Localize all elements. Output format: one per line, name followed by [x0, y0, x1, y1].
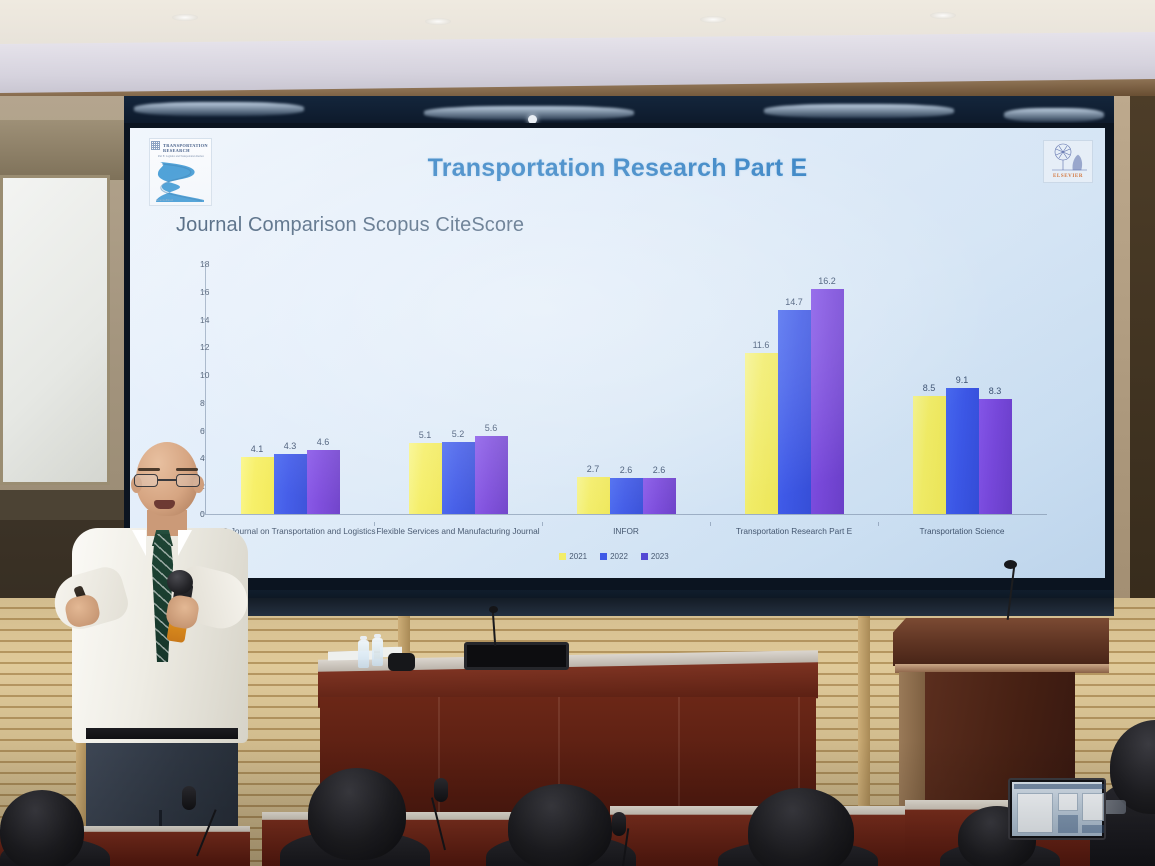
bar-2023: 8.3 — [979, 399, 1012, 514]
bar-2022: 4.3 — [274, 454, 307, 514]
ceiling-light-icon — [930, 12, 956, 19]
audience-microphone-head-icon — [612, 812, 626, 836]
y-axis-tick-mark — [201, 401, 205, 402]
bar-value-label: 2.6 — [620, 465, 633, 475]
wall-panel — [0, 120, 128, 180]
bar-value-label: 14.7 — [785, 297, 803, 307]
x-axis-line — [205, 514, 1047, 515]
bar-2021: 5.1 — [409, 443, 442, 514]
legend-item-2021: 2021 — [559, 552, 587, 561]
bar-2022: 14.7 — [778, 310, 811, 514]
ceiling-light-icon — [425, 18, 451, 25]
bar-2022: 2.6 — [610, 478, 643, 514]
laptop-screen — [1012, 782, 1102, 836]
y-axis-tick-mark — [201, 374, 205, 375]
presenter-mouth — [154, 500, 175, 509]
logo-line-2: RESEARCH — [163, 148, 209, 153]
screen-shadow-band — [124, 598, 1114, 616]
audience-head — [748, 788, 854, 866]
bar-value-label: 5.2 — [452, 429, 465, 439]
bar-value-label: 4.3 — [284, 441, 297, 451]
bar-group-bars: 11.614.716.2 — [710, 264, 878, 514]
journal-emblem-icon — [151, 141, 160, 150]
water-bottle — [372, 638, 383, 666]
bar-value-label: 2.7 — [587, 464, 600, 474]
bar-value-label: 4.6 — [317, 437, 330, 447]
eyeglasses-icon — [134, 474, 200, 487]
bar-value-label: 16.2 — [818, 276, 836, 286]
x-axis-category-label: Transportation Science — [864, 526, 1060, 537]
presenter-brow — [138, 468, 160, 471]
bottle-cap — [374, 634, 381, 638]
audience-laptop[interactable] — [1008, 778, 1106, 840]
audience-microphone-head-icon — [434, 778, 448, 802]
bar-2022: 5.2 — [442, 442, 475, 514]
bar-2023: 4.6 — [307, 450, 340, 514]
water-bottle — [358, 640, 369, 668]
shirt-collar — [132, 530, 146, 556]
bar-2021: 2.7 — [577, 477, 610, 515]
y-axis-tick-mark — [201, 263, 205, 264]
audience-head — [308, 768, 406, 860]
slide-title: Transportation Research Part E — [130, 154, 1105, 183]
bar-group-bars: 2.72.62.6 — [542, 264, 710, 514]
bar-2021: 8.5 — [913, 396, 946, 514]
y-axis-tick-mark — [201, 318, 205, 319]
logo-footer: ScienceDirect — [156, 199, 173, 202]
bar-chart: 024681012141618 4.14.34.6EURO Journal on… — [154, 256, 1074, 566]
x-axis-category-label: INFOR — [528, 526, 724, 537]
audience-microphone-head-icon — [182, 786, 196, 810]
bar-value-label: 5.6 — [485, 423, 498, 433]
bar-value-label: 8.3 — [989, 386, 1002, 396]
bar-2023: 5.6 — [475, 436, 508, 514]
lecture-room: TRANSPORTATION RESEARCH Part E: Logistic… — [0, 0, 1155, 866]
legend-item-2022: 2022 — [600, 552, 628, 561]
bar-group: 2.72.62.6INFOR — [542, 264, 710, 514]
bar-value-label: 9.1 — [956, 375, 969, 385]
bar-2023: 16.2 — [811, 289, 844, 514]
plot-area: 024681012141618 4.14.34.6EURO Journal on… — [206, 264, 1046, 514]
audience-head — [508, 784, 612, 866]
bar-group-bars: 5.15.25.6 — [374, 264, 542, 514]
projector-screen: TRANSPORTATION RESEARCH Part E: Logistic… — [130, 128, 1105, 578]
equipment-case — [388, 653, 415, 671]
bar-group: 8.59.18.3Transportation Science — [878, 264, 1046, 514]
y-axis-tick-mark — [201, 290, 205, 291]
bar-group: 11.614.716.2Transportation Research Part… — [710, 264, 878, 514]
lectern-top — [893, 618, 1109, 666]
bar-2021: 4.1 — [241, 457, 274, 514]
legend-label: 2021 — [569, 552, 587, 561]
bottle-cap — [360, 636, 367, 640]
x-axis-category-label: Transportation Research Part E — [696, 526, 892, 537]
bar-group-bars: 8.59.18.3 — [878, 264, 1046, 514]
legend-swatch — [600, 553, 607, 560]
presenter-brow — [176, 468, 198, 471]
bar-2023: 2.6 — [643, 478, 676, 514]
ceiling-light-icon — [172, 14, 198, 21]
presenter — [28, 430, 233, 830]
legend-item-2023: 2023 — [641, 552, 669, 561]
bar-2021: 11.6 — [745, 353, 778, 514]
bar-group: 5.15.25.6Flexible Services and Manufactu… — [374, 264, 542, 514]
legend-label: 2022 — [610, 552, 628, 561]
presentation-slide: TRANSPORTATION RESEARCH Part E: Logistic… — [130, 128, 1105, 578]
slide-subtitle: Journal Comparison Scopus CiteScore — [176, 214, 524, 237]
legend-swatch — [641, 553, 648, 560]
bar-value-label: 2.6 — [653, 465, 666, 475]
y-axis-tick-mark — [201, 346, 205, 347]
shirt-collar — [178, 530, 192, 556]
chart-legend: 202120222023 — [154, 552, 1074, 561]
ceiling-light-icon — [700, 16, 726, 23]
bar-value-label: 5.1 — [419, 430, 432, 440]
legend-label: 2023 — [651, 552, 669, 561]
desk-microphone-head-icon — [489, 606, 498, 613]
presenter-belt — [86, 728, 238, 739]
bar-2022: 9.1 — [946, 388, 979, 514]
lectern-microphone-head-icon — [1004, 560, 1017, 569]
panel-monitor — [464, 642, 569, 670]
x-axis-category-label: Flexible Services and Manufacturing Jour… — [360, 526, 556, 537]
bar-value-label: 8.5 — [923, 383, 936, 393]
right-wall-edge — [1130, 96, 1155, 656]
bar-value-label: 11.6 — [753, 340, 770, 350]
legend-swatch — [559, 553, 566, 560]
bar-groups: 4.14.34.6EURO Journal on Transportation … — [206, 264, 1046, 514]
bar-value-label: 4.1 — [251, 444, 264, 454]
audience-head — [0, 790, 84, 866]
